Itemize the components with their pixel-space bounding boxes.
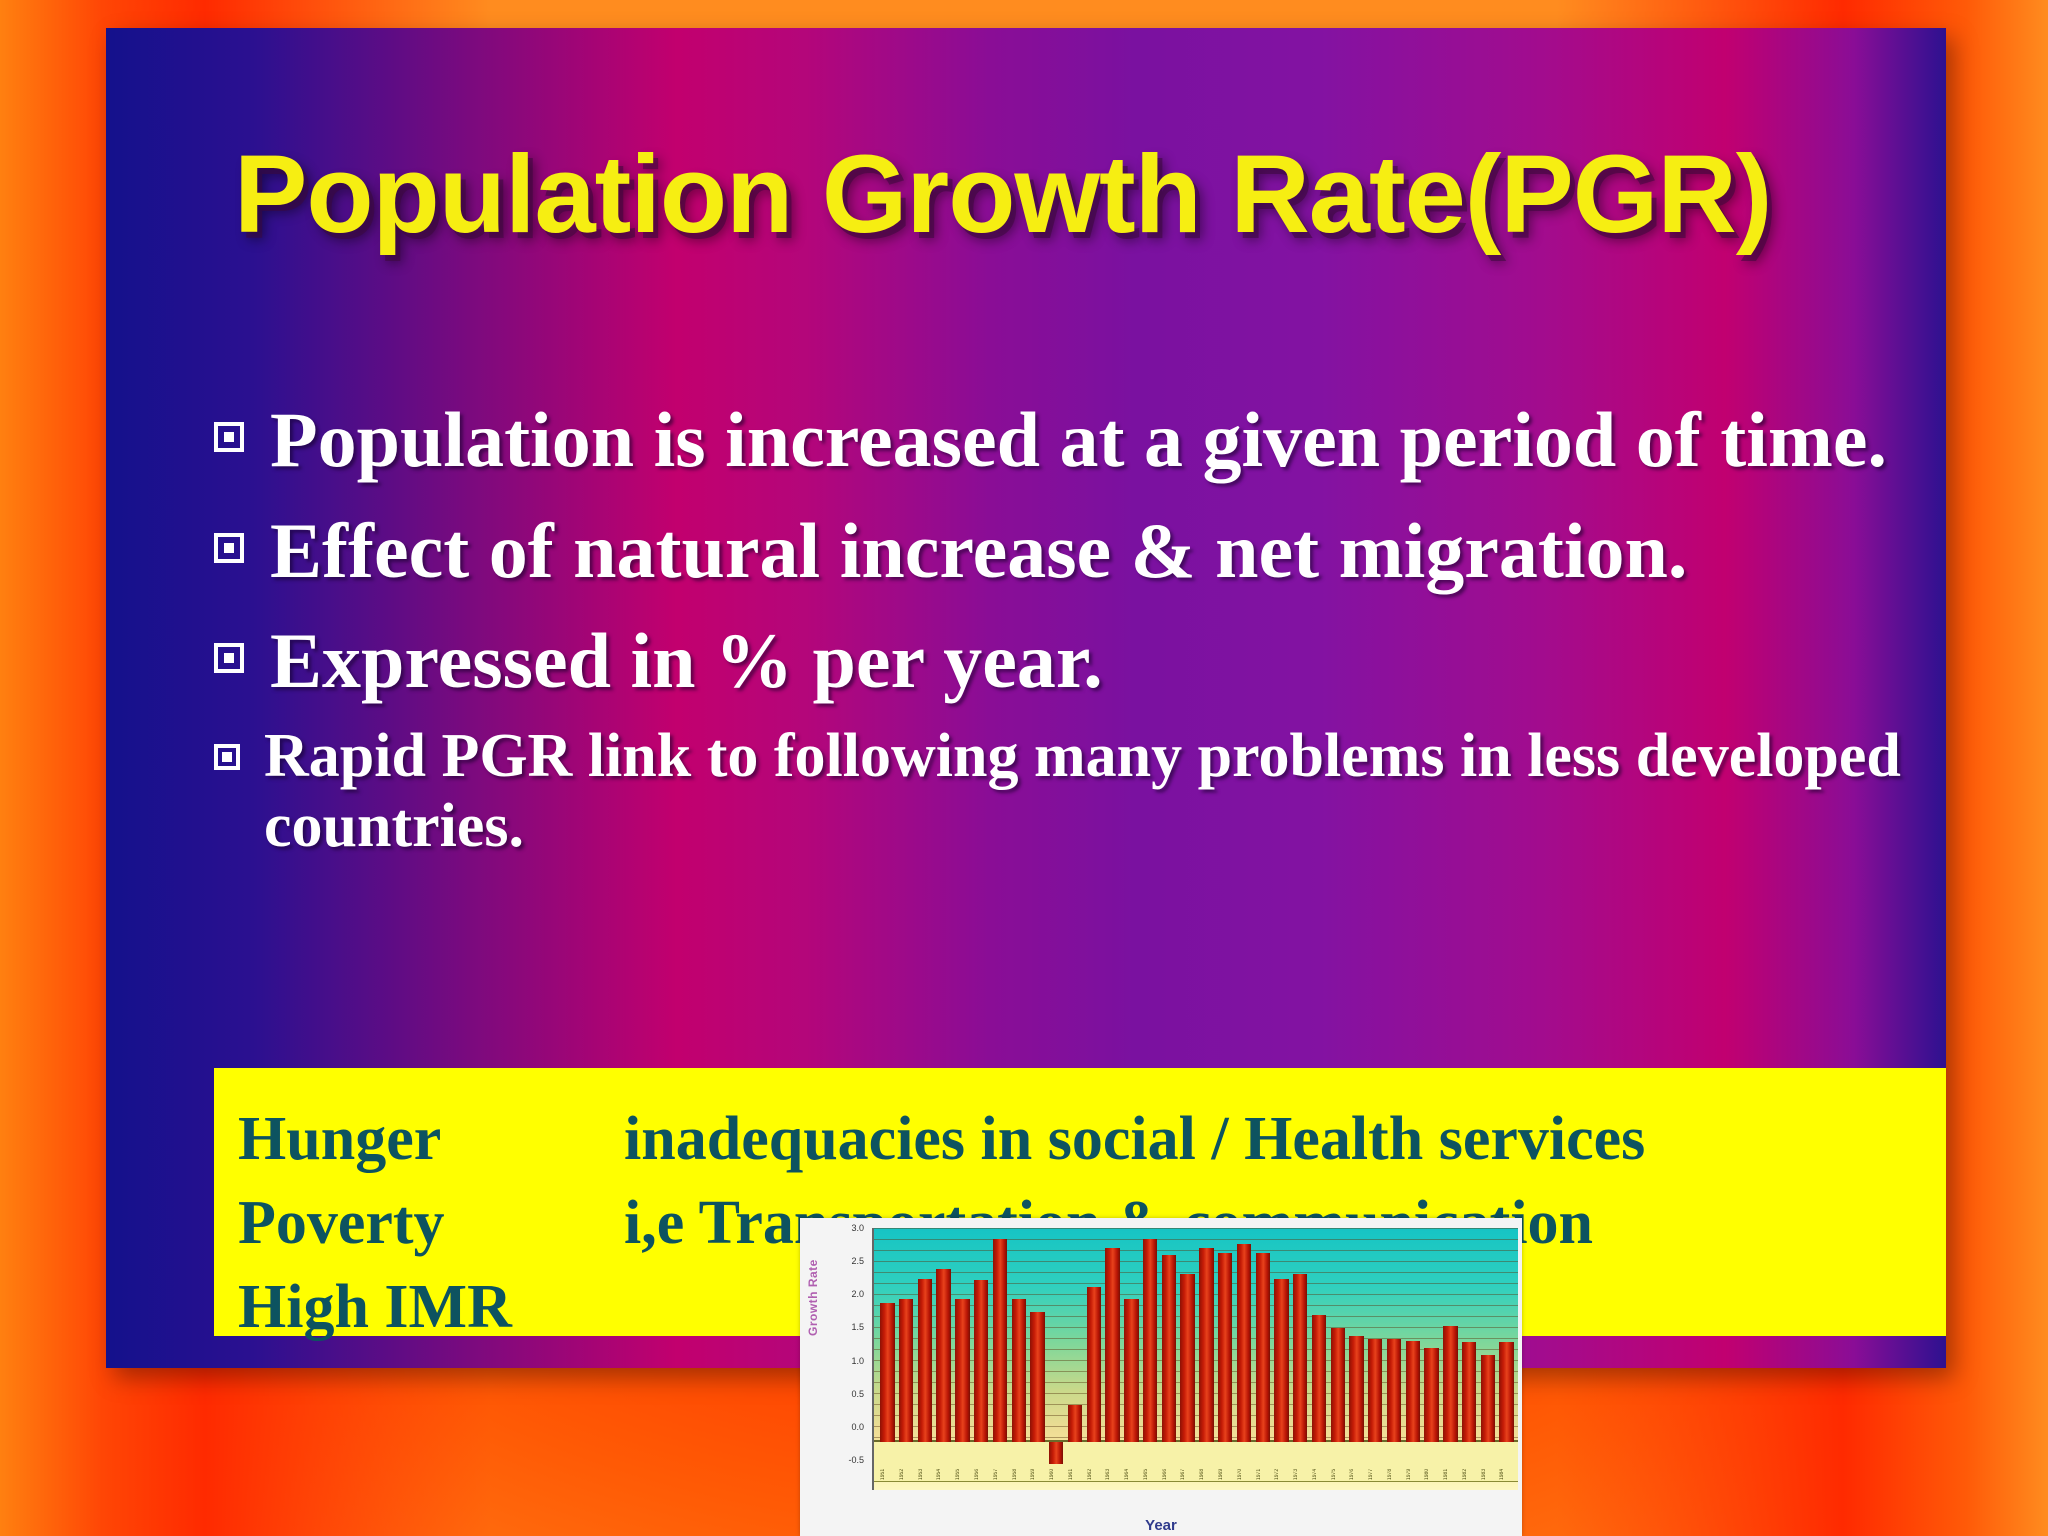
chart-y-tick: 2.0 [851, 1289, 864, 1299]
chart-x-tick: 1955 [955, 1444, 969, 1480]
bullet-list: Population is increased at a given perio… [214, 396, 1944, 867]
page-title: Population Growth Rate(PGR) [234, 140, 1946, 250]
chart-bar [1068, 1405, 1082, 1442]
chart-x-tick: 1961 [1068, 1444, 1082, 1480]
callout-left-text: Hunger [214, 1108, 624, 1170]
chart-x-tick: 1979 [1406, 1444, 1420, 1480]
chart-x-tick: 1975 [1331, 1444, 1345, 1480]
list-item: Effect of natural increase & net migrati… [214, 507, 1944, 594]
chart-x-tick: 1965 [1143, 1444, 1157, 1480]
chart-bar [1387, 1339, 1401, 1442]
chart-x-tick-labels: 1951195219531954195519561957195819591960… [878, 1444, 1516, 1480]
chart-x-tick: 1964 [1124, 1444, 1138, 1480]
bullet-text: Rapid PGR link to following many problem… [264, 722, 1944, 861]
chart-bar [1256, 1253, 1270, 1442]
chart-x-tick: 1982 [1462, 1444, 1476, 1480]
chart-plot-area: 1951195219531954195519561957195819591960… [872, 1228, 1518, 1490]
bullet-text: Effect of natural increase & net migrati… [270, 507, 1687, 594]
slide-canvas: Population Growth Rate(PGR) Population i… [0, 0, 2048, 1536]
chart-bar [1162, 1255, 1176, 1442]
chart-bar [1443, 1326, 1457, 1442]
chart-bar [880, 1303, 894, 1442]
chart-x-tick: 1958 [1012, 1444, 1026, 1480]
chart-bar [1105, 1248, 1119, 1442]
chart-x-tick: 1968 [1199, 1444, 1213, 1480]
chart-x-tick: 1969 [1218, 1444, 1232, 1480]
chart-bar [1499, 1342, 1513, 1442]
square-bullet-icon [214, 643, 244, 673]
square-bullet-icon [214, 422, 244, 452]
chart-y-tick: 1.0 [851, 1356, 864, 1366]
chart-bar [974, 1280, 988, 1442]
chart-bar [1087, 1287, 1101, 1443]
chart-x-tick: 1959 [1030, 1444, 1044, 1480]
chart-bar [1406, 1341, 1420, 1442]
chart-x-tick: 1983 [1481, 1444, 1495, 1480]
chart-bar [955, 1299, 969, 1442]
chart-y-axis-label: Growth Rate [806, 1259, 820, 1336]
chart-x-tick: 1978 [1387, 1444, 1401, 1480]
embedded-bar-chart: Growth Rate 3.02.52.01.51.00.50.0-0.5 19… [800, 1218, 1522, 1536]
chart-bar [936, 1269, 950, 1442]
chart-bar [1368, 1339, 1382, 1442]
chart-y-tick-labels: 3.02.52.01.51.00.50.0-0.5 [824, 1226, 868, 1494]
chart-bar [1143, 1239, 1157, 1442]
chart-bars [878, 1228, 1516, 1442]
chart-bar [1462, 1342, 1476, 1442]
callout-row: Hunger inadequacies in social / Health s… [214, 1068, 1946, 1170]
chart-bar [1349, 1336, 1363, 1442]
chart-y-tick: 0.0 [851, 1422, 864, 1432]
chart-x-tick: 1967 [1180, 1444, 1194, 1480]
chart-y-tick: 3.0 [851, 1223, 864, 1233]
chart-bar [1180, 1274, 1194, 1442]
chart-x-tick: 1970 [1237, 1444, 1251, 1480]
chart-bar [1312, 1315, 1326, 1442]
chart-bar [1012, 1299, 1026, 1442]
chart-y-tick: 1.5 [851, 1322, 864, 1332]
chart-x-tick: 1954 [936, 1444, 950, 1480]
list-item: Population is increased at a given perio… [214, 396, 1944, 483]
chart-x-tick: 1973 [1293, 1444, 1307, 1480]
chart-bar [1124, 1299, 1138, 1442]
callout-left-text: High IMR [214, 1276, 624, 1338]
chart-x-tick: 1980 [1424, 1444, 1438, 1480]
chart-bar [1218, 1253, 1232, 1442]
chart-y-tick: -0.5 [848, 1455, 864, 1465]
chart-y-tick: 0.5 [851, 1389, 864, 1399]
chart-bar [1274, 1279, 1288, 1442]
slide-content-panel: Population Growth Rate(PGR) Population i… [106, 28, 1946, 1368]
chart-x-tick: 1957 [993, 1444, 1007, 1480]
chart-x-tick: 1953 [918, 1444, 932, 1480]
chart-x-tick: 1962 [1087, 1444, 1101, 1480]
chart-x-tick: 1963 [1105, 1444, 1119, 1480]
chart-x-tick: 1972 [1274, 1444, 1288, 1480]
chart-x-tick: 1981 [1443, 1444, 1457, 1480]
chart-x-tick: 1984 [1499, 1444, 1513, 1480]
square-bullet-icon [214, 744, 240, 770]
chart-bar [1481, 1355, 1495, 1442]
chart-x-tick: 1977 [1368, 1444, 1382, 1480]
chart-x-tick: 1960 [1049, 1444, 1063, 1480]
bullet-text: Population is increased at a given perio… [270, 396, 1887, 483]
chart-x-tick: 1974 [1312, 1444, 1326, 1480]
callout-right-text: inadequacies in social / Health services [624, 1108, 1946, 1170]
list-item: Rapid PGR link to following many problem… [214, 722, 1944, 861]
callout-left-text: Poverty [214, 1192, 624, 1254]
chart-x-tick: 1976 [1349, 1444, 1363, 1480]
chart-bar [993, 1239, 1007, 1442]
chart-x-tick: 1971 [1256, 1444, 1270, 1480]
chart-y-tick: 2.5 [851, 1256, 864, 1266]
chart-bar [1293, 1274, 1307, 1442]
chart-bar [918, 1279, 932, 1442]
chart-bar [899, 1299, 913, 1442]
list-item: Expressed in % per year. [214, 617, 1944, 704]
chart-bar [1199, 1248, 1213, 1442]
chart-bar [1237, 1244, 1251, 1442]
chart-x-axis-label: Year [800, 1517, 1522, 1534]
chart-x-tick: 1951 [880, 1444, 894, 1480]
chart-bar [1424, 1348, 1438, 1442]
chart-bar [1331, 1328, 1345, 1442]
square-bullet-icon [214, 533, 244, 563]
bullet-text: Expressed in % per year. [270, 617, 1103, 704]
chart-x-tick: 1966 [1162, 1444, 1176, 1480]
chart-bar [1030, 1312, 1044, 1442]
chart-x-tick: 1956 [974, 1444, 988, 1480]
chart-x-tick: 1952 [899, 1444, 913, 1480]
